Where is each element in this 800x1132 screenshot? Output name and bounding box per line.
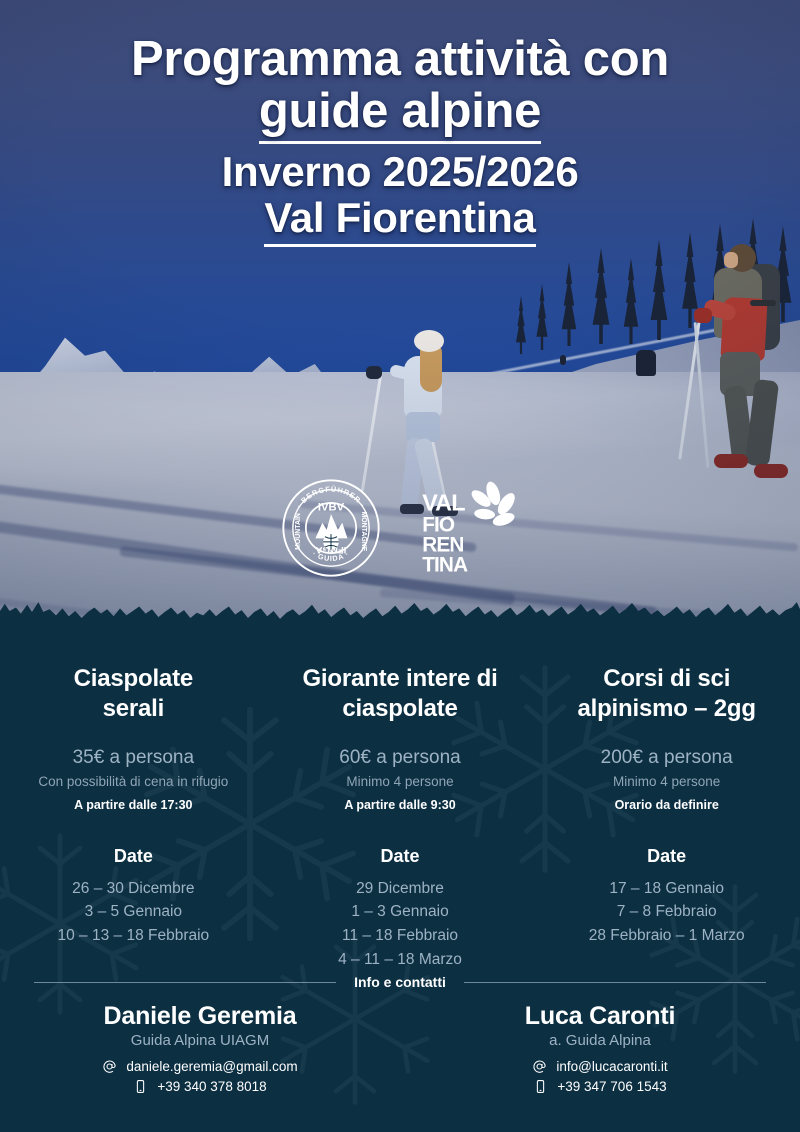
- title-line-4: Val Fiorentina: [0, 196, 800, 247]
- contact-name: Daniele Geremia: [0, 1002, 400, 1031]
- activity-card-giornate-intere: Giorante intere di ciaspolate 60€ a pers…: [267, 664, 534, 971]
- activity-title: Giorante intere di ciaspolate: [281, 664, 520, 724]
- activity-time: A partire dalle 9:30: [281, 798, 520, 812]
- title-line-2: guide alpine: [0, 86, 800, 144]
- logo-row: · BERGFÜHRER · · GUIDA · IVBV IFMGA MOUN…: [0, 470, 800, 590]
- val-fiorentina-logo-icon: VAL FIO REN TINA: [417, 476, 521, 585]
- date-item: 1 – 3 Gennaio: [281, 900, 520, 924]
- mobile-phone-icon: [533, 1079, 548, 1094]
- poster-root: Programma attività con guide alpine Inve…: [0, 0, 800, 1132]
- activity-price: 60€ a persona: [281, 746, 520, 771]
- contact-phone-row[interactable]: +39 347 706 1543: [400, 1079, 800, 1094]
- date-item: 11 – 18 Febbraio: [281, 924, 520, 948]
- title-line-4-text: Val Fiorentina: [264, 196, 535, 247]
- divider-line-right: [464, 982, 766, 983]
- date-item: 7 – 8 Febbraio: [547, 900, 786, 924]
- contact-role: Guida Alpina UIAGM: [0, 1032, 400, 1049]
- contact-phone: +39 340 378 8018: [157, 1079, 266, 1094]
- info-label: Info e contatti: [354, 974, 446, 990]
- activity-time: A partire dalle 17:30: [14, 798, 253, 812]
- contacts-row: Daniele Geremia Guida Alpina UIAGM danie…: [0, 1002, 800, 1094]
- divider-line-left: [34, 982, 336, 983]
- at-icon: [102, 1059, 117, 1074]
- activity-note: Con possibilità di cena in rifugio: [14, 773, 253, 791]
- dates-header: Date: [547, 846, 786, 867]
- svg-text:IVBV: IVBV: [318, 501, 345, 513]
- contact-role: a. Guida Alpina: [400, 1032, 800, 1049]
- title-line-3: Inverno 2025/2026: [0, 150, 800, 195]
- svg-text:VAL: VAL: [422, 489, 465, 515]
- contact-card-luca-caronti: Luca Caronti a. Guida Alpina info@lucaca…: [400, 1002, 800, 1094]
- date-item: 17 – 18 Gennaio: [547, 877, 786, 901]
- dark-rock: [636, 350, 656, 376]
- activity-note: Minimo 4 persone: [547, 773, 786, 791]
- activity-card-ciaspolate-serali: Ciaspolate serali 35€ a persona Con poss…: [0, 664, 267, 971]
- dates-header: Date: [281, 846, 520, 867]
- dates-header: Date: [14, 846, 253, 867]
- svg-text:MOUNTAIN: MOUNTAIN: [295, 513, 302, 550]
- date-item: 29 Dicembre: [281, 877, 520, 901]
- contact-card-daniele-geremia: Daniele Geremia Guida Alpina UIAGM danie…: [0, 1002, 400, 1094]
- figure-man-snowshoer: [706, 240, 794, 490]
- contact-email: daniele.geremia@gmail.com: [126, 1059, 297, 1074]
- activity-note: Minimo 4 persone: [281, 773, 520, 791]
- date-item: 28 Febbraio – 1 Marzo: [547, 924, 786, 948]
- at-icon: [532, 1059, 547, 1074]
- contact-phone-row[interactable]: +39 340 378 8018: [0, 1079, 400, 1094]
- activity-columns: Ciaspolate serali 35€ a persona Con poss…: [0, 664, 800, 971]
- date-item: 10 – 13 – 18 Febbraio: [14, 924, 253, 948]
- mobile-phone-icon: [133, 1079, 148, 1094]
- title-line-2-text: guide alpine: [259, 86, 541, 144]
- title-line-1: Programma attività con: [0, 34, 800, 86]
- svg-text:MONTAGNE: MONTAGNE: [360, 511, 367, 551]
- dark-rock: [560, 355, 566, 365]
- contact-name: Luca Caronti: [400, 1002, 800, 1031]
- ivbv-uiagm-ifmga-badge-icon: · BERGFÜHRER · · GUIDA · IVBV IFMGA MOUN…: [279, 476, 383, 585]
- contact-phone: +39 347 706 1543: [557, 1079, 666, 1094]
- poster-title: Programma attività con guide alpine Inve…: [0, 34, 800, 247]
- contact-email: info@lucacaronti.it: [556, 1059, 667, 1074]
- date-item: 3 – 5 Gennaio: [14, 900, 253, 924]
- activity-card-corsi-sci-alpinismo: Corsi di sci alpinismo – 2gg 200€ a pers…: [533, 664, 800, 971]
- contact-email-row[interactable]: info@lucacaronti.it: [400, 1059, 800, 1074]
- activity-price: 200€ a persona: [547, 746, 786, 771]
- date-item: 26 – 30 Dicembre: [14, 877, 253, 901]
- contact-email-row[interactable]: daniele.geremia@gmail.com: [0, 1059, 400, 1074]
- activity-time: Orario da definire: [547, 798, 786, 812]
- activity-title: Ciaspolate serali: [14, 664, 253, 724]
- activity-title: Corsi di sci alpinismo – 2gg: [547, 664, 786, 724]
- activity-price: 35€ a persona: [14, 746, 253, 771]
- svg-text:TINA: TINA: [422, 553, 468, 576]
- info-divider: Info e contatti: [0, 968, 800, 996]
